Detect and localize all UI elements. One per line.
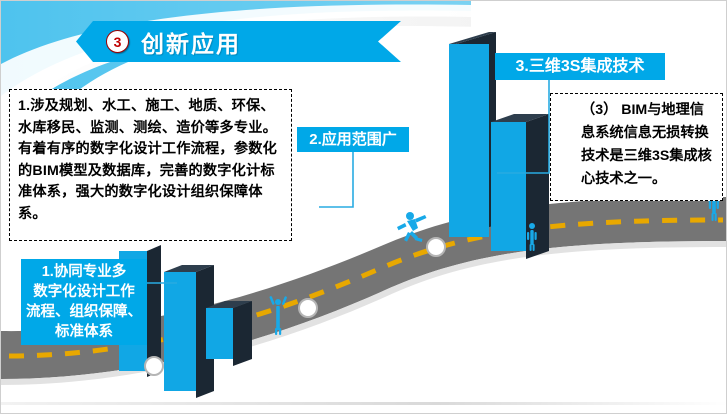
- left-description-box: 1.涉及规划、水工、施工、地质、环保、水库移民、监测、测绘、造价等多专业。有着有…: [9, 89, 292, 241]
- road-marker-circle-icon: [145, 357, 163, 375]
- callout-1-line-4: 标准体系: [55, 322, 113, 342]
- callout-1-line-2: 数字化设计工作: [33, 282, 135, 302]
- bar-6: [491, 114, 549, 259]
- callout-1-line-3: 流程、组织保障、: [26, 302, 142, 322]
- section-banner: 3 创新应用: [76, 21, 401, 62]
- road-marker-circle-icon: [299, 299, 317, 317]
- slide-canvas: 3 创新应用 1.涉及规划、水工、施工、地质、环保、水库移民、监测、测绘、造价等…: [0, 0, 727, 414]
- slide-baseline: [1, 402, 727, 405]
- section-number-badge: 3: [106, 30, 129, 53]
- callout-3[interactable]: 3.三维3S集成技术: [495, 53, 665, 80]
- callout-2-label: 2.应用范围广: [309, 130, 397, 150]
- callout-2[interactable]: 2.应用范围广: [297, 127, 409, 152]
- right-description-text: （3） BIM与地理信息系统信息无损转换技术是三维3S集成核心技术之一。: [559, 99, 716, 191]
- bar-2: [206, 301, 252, 366]
- left-description-text: 1.涉及规划、水工、施工、地质、环保、水库移民、监测、测绘、造价等多专业。有着有…: [18, 98, 277, 222]
- right-description-box: （3） BIM与地理信息系统信息无损转换技术是三维3S集成核心技术之一。: [550, 93, 723, 201]
- callout-1[interactable]: 1.协同专业多 数字化设计工作 流程、组织保障、 标准体系: [21, 259, 147, 345]
- callout-3-label: 3.三维3S集成技术: [516, 57, 645, 77]
- road-marker-circle-icon: [427, 238, 445, 256]
- callout-1-line-1: 1.协同专业多: [42, 262, 127, 282]
- section-title: 创新应用: [141, 25, 241, 59]
- bar-5: [449, 32, 496, 237]
- connector-line-2: [319, 152, 353, 207]
